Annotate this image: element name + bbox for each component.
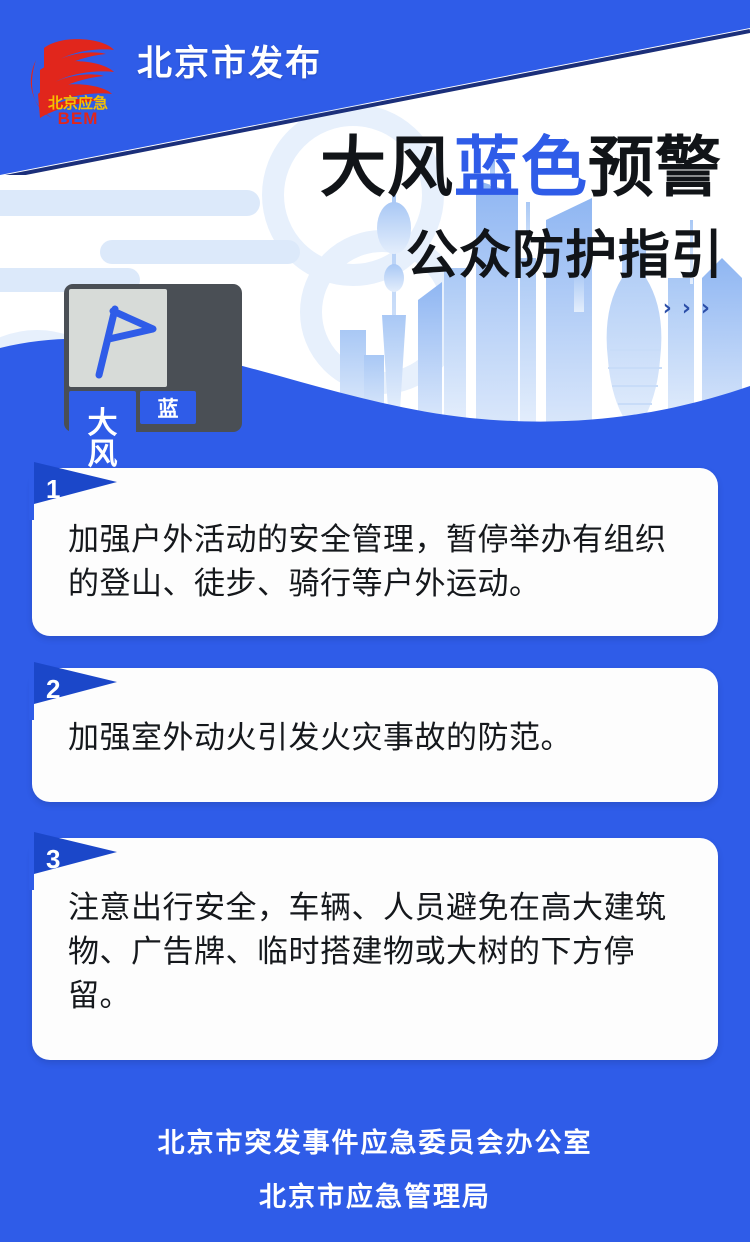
headline-part2-blue: 蓝色 [454,130,588,204]
page-subtitle: 公众防护指引 [0,230,724,282]
publisher-title: 北京市发布 [137,35,322,86]
footer-organization-2: 北京市应急管理局 [0,1175,750,1214]
headline-part3: 预警 [588,130,722,204]
badge-category-char1: 大 [88,409,118,440]
gale-warning-badge: 大 风 蓝 GALE [64,284,242,432]
headline-part1: 大风 [320,130,454,204]
tip-number: 1 [46,474,60,505]
logo-en-text: BEM [58,109,99,126]
page-title: 大风蓝色预警 [0,134,722,200]
wind-flag-icon [69,289,167,387]
flag-marker-icon [25,830,143,892]
poster-root: 北京应急 BEM 北京市发布 大风蓝色预警 公众防护指引 ››› 大 风 蓝 G… [0,0,750,1242]
tip-card: 3 注意出行安全，车辆、人员避免在高大建筑物、广告牌、临时搭建物或大树的下方停留… [32,838,718,1060]
flag-marker-icon [25,460,143,522]
footer-organization-1: 北京市突发事件应急委员会办公室 [0,1121,750,1160]
tip-number: 3 [46,844,60,875]
flag-marker-icon [25,660,143,722]
tip-card: 1 加强户外活动的安全管理，暂停举办有组织的登山、徒步、骑行等户外运动。 [32,468,718,636]
tip-number: 2 [46,674,60,705]
tip-card: 2 加强室外动火引发火灾事故的防范。 [32,668,718,802]
beijing-emergency-logo: 北京应急 BEM [22,26,134,126]
badge-level-label: 蓝 [140,391,196,424]
